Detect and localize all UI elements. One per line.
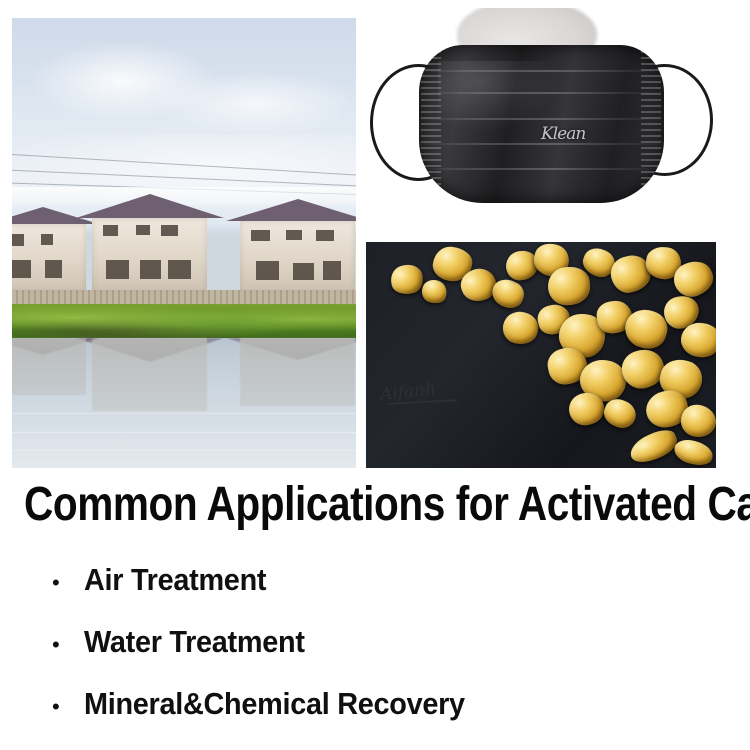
water-ripple — [12, 413, 356, 414]
window — [41, 234, 53, 245]
house — [81, 194, 219, 293]
gold-nugget — [419, 277, 449, 306]
list-item: • Air Treatment — [52, 560, 712, 622]
bullet-label-mineral-chemical-recovery: Mineral&Chemical Recovery — [84, 684, 465, 724]
water-surface — [12, 338, 356, 468]
applications-bullet-list: • Air Treatment • Water Treatment • Mine… — [52, 560, 712, 746]
cloud-shape — [156, 72, 356, 135]
house-roof — [226, 199, 356, 221]
mask-body — [419, 45, 664, 203]
gold-nugget — [500, 309, 541, 347]
house-row — [12, 194, 356, 293]
gold-nuggets-photo: Aifanh — [366, 242, 716, 468]
list-item: • Mineral&Chemical Recovery — [52, 684, 712, 746]
body-reflection — [12, 338, 86, 395]
window — [316, 230, 334, 241]
window — [323, 261, 341, 279]
window — [106, 260, 129, 280]
mask-pleat — [419, 92, 664, 94]
black-face-mask-photo: Klean — [366, 8, 716, 240]
bullet-point-icon: • — [52, 687, 84, 727]
mask-pleat — [419, 118, 664, 120]
list-item: • Water Treatment — [52, 622, 712, 684]
gold-nugget — [567, 392, 605, 427]
houses-reflected-in-water-photo — [12, 18, 356, 468]
gold-nugget — [672, 436, 715, 468]
window — [12, 234, 24, 246]
window — [168, 260, 191, 280]
window — [293, 263, 314, 280]
water-ripple — [12, 432, 356, 433]
window — [136, 225, 150, 235]
house-body — [240, 221, 356, 292]
house-reflection — [81, 338, 219, 411]
mask-stitching — [641, 51, 661, 196]
window — [103, 225, 118, 236]
grass-bank — [12, 304, 356, 338]
window — [140, 260, 161, 280]
mask-pleat — [419, 168, 664, 170]
bullet-point-icon: • — [52, 563, 84, 603]
gold-nugget — [388, 262, 425, 297]
gold-nugget — [546, 265, 591, 307]
mask-stitching — [421, 51, 441, 196]
bullet-point-icon: • — [52, 625, 84, 665]
window — [12, 260, 31, 278]
bullet-label-water-treatment: Water Treatment — [84, 622, 305, 662]
body-reflection — [92, 338, 208, 411]
house-reflection — [229, 338, 356, 406]
bullet-label-air-treatment: Air Treatment — [84, 560, 266, 600]
water-ripple — [12, 450, 356, 451]
slide-canvas: Klean Aifanh — [0, 0, 750, 750]
window — [251, 230, 269, 241]
body-reflection — [240, 338, 356, 406]
mask-pleat — [419, 143, 664, 145]
window — [161, 225, 178, 236]
house — [229, 199, 356, 292]
window — [45, 260, 62, 278]
gold-nugget — [626, 425, 681, 468]
window — [256, 261, 279, 279]
house-roof — [76, 194, 224, 218]
mask-pleat — [419, 70, 664, 72]
page-title: Common Applications for Activated Carbon — [24, 478, 616, 532]
house-body — [12, 224, 86, 292]
house-body — [92, 218, 208, 293]
house-reflection — [12, 338, 95, 395]
window — [286, 230, 302, 240]
